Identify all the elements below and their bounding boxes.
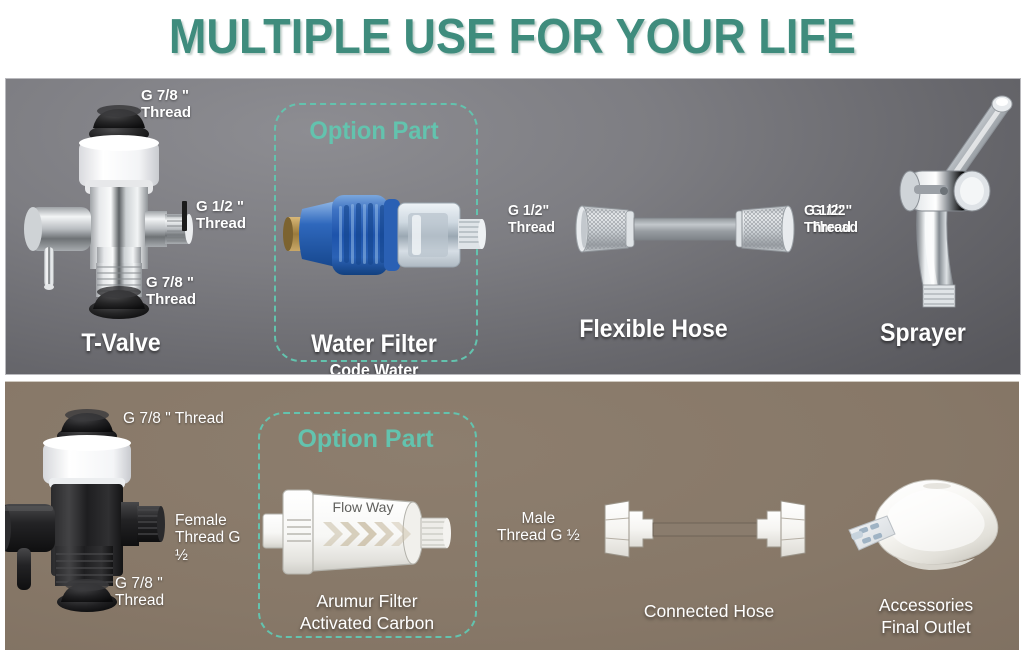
item-accessories[interactable]: Accessories Final Outlet: [833, 382, 1019, 650]
option-part-badge-water-filter: Option Part: [279, 117, 469, 146]
flexible-hose-icon: [570, 194, 800, 264]
label-black-valve-top-thread: G 7/8 " Thread: [123, 410, 224, 427]
label-black-valve-side-thread: Female Thread G ½: [175, 512, 255, 564]
caption-accessories: Accessories Final Outlet: [831, 595, 1019, 639]
hose-cap-left: [576, 206, 634, 252]
blue-cap: [299, 195, 400, 275]
item-flexible-hose[interactable]: G 1/2" Thread: [496, 79, 796, 374]
caption-connected-hose: Connected Hose: [585, 601, 833, 623]
item-sprayer[interactable]: Sprayer: [826, 79, 1020, 374]
white-cap: [43, 435, 131, 488]
white-cap: [79, 135, 159, 194]
option-part-badge-arumur: Option Part: [258, 425, 473, 454]
bidet-seat-icon: [833, 472, 1019, 602]
clear-housing: [398, 203, 460, 267]
thread-outlet: [458, 219, 486, 249]
caption-flexible-hose: Flexible Hose: [532, 315, 776, 344]
handheld-sprayer-icon: [868, 85, 1021, 315]
caption-water-filter-main: Water Filter: [311, 330, 437, 358]
hose-cap-right: [736, 206, 794, 252]
label-t-valve-side-thread: G 1/2 " Thread: [196, 199, 246, 233]
sprayer-outlet-thread: [923, 285, 955, 307]
hose-tube: [634, 218, 738, 240]
thread-outlet-right: [121, 502, 165, 546]
caption-t-valve: T-Valve: [38, 329, 204, 358]
tick-marker-side: [182, 201, 187, 231]
hose-nut-right: [757, 501, 805, 557]
valve-knob: [5, 504, 55, 590]
rubber-washer-bottom: [57, 579, 117, 612]
page-title: MULTIPLE USE FOR YOUR LIFE: [168, 9, 855, 65]
connected-hose-icon: [595, 497, 815, 567]
rubber-washer-bottom: [89, 286, 149, 319]
label-sprayer-thread: G 1/2" Thread: [804, 203, 851, 237]
page-header: MULTIPLE USE FOR YOUR LIFE: [0, 0, 1024, 74]
filter-collar: [283, 490, 313, 574]
arumur-filter-icon: Flow Way: [261, 472, 481, 592]
valve-knob: [24, 207, 91, 290]
caption-sprayer: Sprayer: [838, 319, 1007, 348]
item-water-filter[interactable]: Option Part: [258, 79, 488, 374]
label-arumur-male-thread: Male Thread G ½: [497, 510, 580, 545]
filter-outlet-thread: [421, 518, 451, 548]
item-connected-hose[interactable]: Connected Hose: [585, 382, 835, 650]
label-t-valve-top-thread: G 7/8 " Thread: [141, 88, 191, 122]
bidet-lid: [875, 480, 998, 565]
flow-way-text: Flow Way: [333, 499, 394, 515]
sprayer-pivot: [900, 171, 990, 211]
item-t-valve-black[interactable]: G 7/8 " Thread Female Thread G ½ G 7/8 "…: [5, 382, 255, 650]
label-hose-left-thread: G 1/2" Thread: [508, 203, 555, 237]
item-arumur-filter[interactable]: Option Part: [253, 382, 491, 650]
item-t-valve[interactable]: G 7/8 " Thread G 1/2 " Thread G 7/8 " Th…: [6, 79, 256, 374]
caption-water-filter: Water Filter Code Water: [273, 301, 475, 375]
caption-arumur-filter: Arumur Filter Activated Carbon: [253, 591, 481, 635]
caption-water-filter-sub: Code Water: [273, 360, 475, 375]
filter-inlet: [263, 514, 285, 548]
top-panel-chrome-parts: G 7/8 " Thread G 1/2 " Thread G 7/8 " Th…: [5, 78, 1021, 375]
water-filter-blue-icon: [262, 165, 492, 305]
label-black-valve-bottom-thread: G 7/8 " Thread: [115, 575, 164, 610]
label-t-valve-bottom-thread: G 7/8 " Thread: [146, 275, 196, 309]
hose-nut-left: [605, 501, 653, 557]
connected-hose-tube: [653, 523, 757, 536]
bottom-panel-black-parts: G 7/8 " Thread Female Thread G ½ G 7/8 "…: [5, 381, 1019, 650]
